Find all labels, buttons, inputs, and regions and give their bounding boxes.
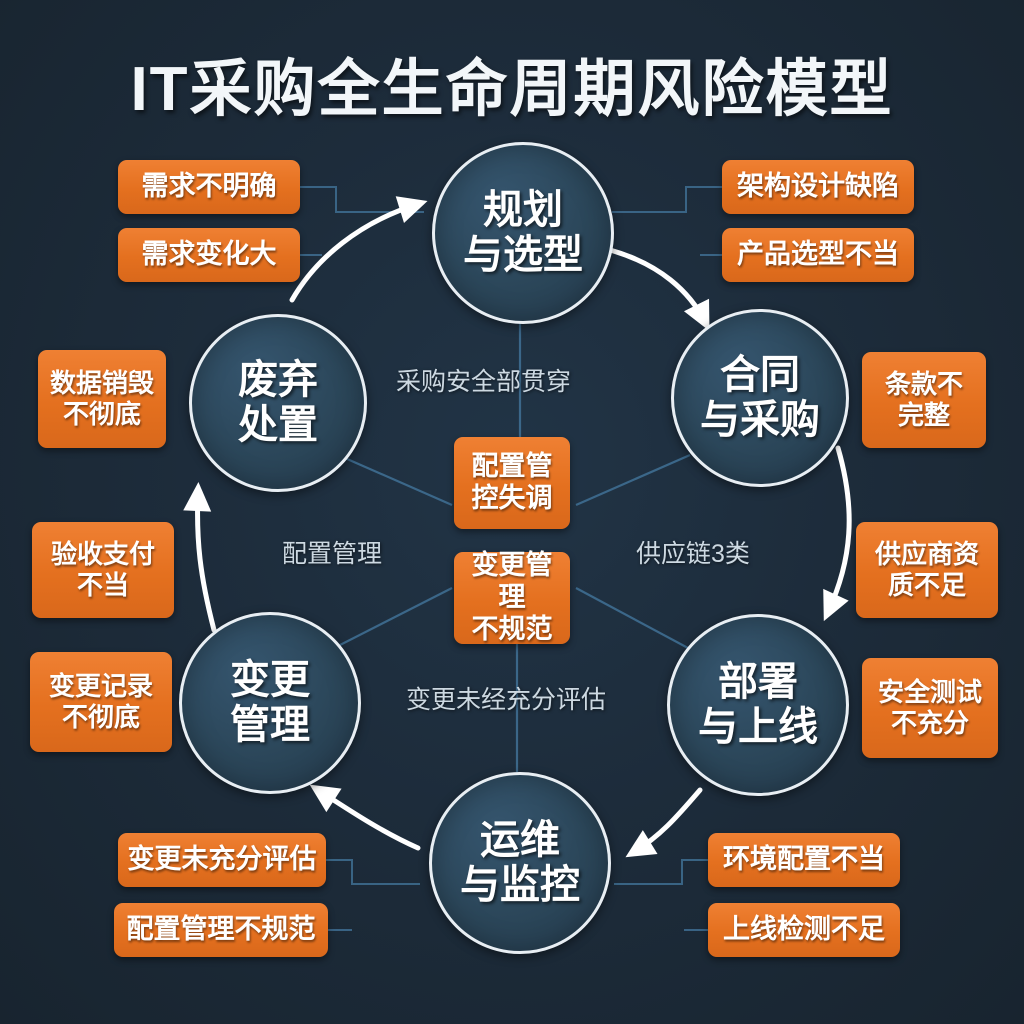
stage-node-label-line2: 管理 (230, 703, 310, 748)
stage-node-label-line2: 与上线 (698, 705, 818, 750)
stage-node-label-line1: 运维 (480, 818, 560, 863)
stage-node-label-line1: 变更 (230, 658, 310, 703)
caption-cap-right: 供应链3类 (636, 534, 750, 570)
risk-label-text: 环境配置不当 (723, 844, 885, 876)
caption-cap-top: 采购安全部贯穿 (396, 362, 571, 398)
risk-label-config-drift[interactable]: 配置管理不规范 (114, 903, 328, 957)
risk-label-golive-check[interactable]: 上线检测不足 (708, 903, 900, 957)
risk-label-text: 架构设计缺陷 (737, 171, 899, 203)
stage-node-contract[interactable]: 合同与采购 (671, 309, 849, 487)
risk-label-text: 条款不完整 (885, 369, 963, 430)
risk-label-text: 上线检测不足 (723, 914, 885, 946)
risk-label-text: 供应商资质不足 (875, 539, 979, 600)
risk-label-text: 产品选型不当 (737, 239, 899, 271)
stage-node-label-line1: 规划 (483, 188, 563, 233)
risk-label-req-unclear[interactable]: 需求不明确 (118, 160, 300, 214)
risk-label-req-volatile[interactable]: 需求变化大 (118, 228, 300, 282)
page-title: IT采购全生命周期风险模型 (0, 38, 1024, 128)
risk-label-text: 数据销毁不彻底 (50, 368, 154, 429)
stage-node-disposal[interactable]: 废弃处置 (189, 314, 367, 492)
risk-label-change-assess[interactable]: 变更未充分评估 (118, 833, 326, 887)
risk-label-env-config[interactable]: 环境配置不当 (708, 833, 900, 887)
risk-label-arch-flaw[interactable]: 架构设计缺陷 (722, 160, 914, 214)
stage-node-label-line2: 处置 (238, 403, 318, 448)
risk-label-vendor-qualify[interactable]: 供应商资质不足 (856, 522, 998, 618)
risk-label-change-record[interactable]: 变更记录不彻底 (30, 652, 172, 752)
stage-node-label-line2: 与监控 (460, 863, 580, 908)
risk-label-text: 变更管理不规范 (462, 550, 562, 646)
risk-label-text: 变更未充分评估 (128, 844, 317, 876)
stage-node-label-line1: 合同 (720, 353, 800, 398)
stage-node-deployment[interactable]: 部署与上线 (667, 614, 849, 796)
stage-node-label-line1: 部署 (718, 660, 798, 705)
stage-node-label-line2: 与选型 (463, 233, 583, 278)
caption-cap-left: 配置管理 (282, 534, 382, 570)
stage-node-planning[interactable]: 规划与选型 (432, 142, 614, 324)
risk-label-text: 需求不明确 (142, 171, 277, 203)
stage-node-label-line1: 废弃 (238, 358, 318, 403)
risk-label-text: 配置管理不规范 (127, 914, 316, 946)
risk-label-text: 安全测试不充分 (878, 677, 982, 738)
stage-node-operations[interactable]: 运维与监控 (429, 772, 611, 954)
risk-label-change-uncontrolled[interactable]: 变更管理不规范 (454, 552, 570, 644)
risk-label-text: 验收支付不当 (51, 539, 155, 600)
caption-cap-bottom: 变更未经充分评估 (406, 680, 606, 716)
risk-label-text: 需求变化大 (142, 239, 277, 271)
risk-label-disposal-data[interactable]: 数据销毁不彻底 (38, 350, 166, 448)
risk-label-security-test[interactable]: 安全测试不充分 (862, 658, 998, 758)
stage-node-change[interactable]: 变更管理 (179, 612, 361, 794)
risk-label-product-choice[interactable]: 产品选型不当 (722, 228, 914, 282)
risk-label-text: 变更记录不彻底 (49, 671, 153, 732)
risk-label-terms-incomplete[interactable]: 条款不完整 (862, 352, 986, 448)
risk-label-accept-pay[interactable]: 验收支付不当 (32, 522, 174, 618)
stage-node-label-line2: 与采购 (700, 398, 820, 443)
risk-label-text: 配置管控失调 (472, 451, 553, 515)
risk-label-config-out-of-control[interactable]: 配置管控失调 (454, 437, 570, 529)
